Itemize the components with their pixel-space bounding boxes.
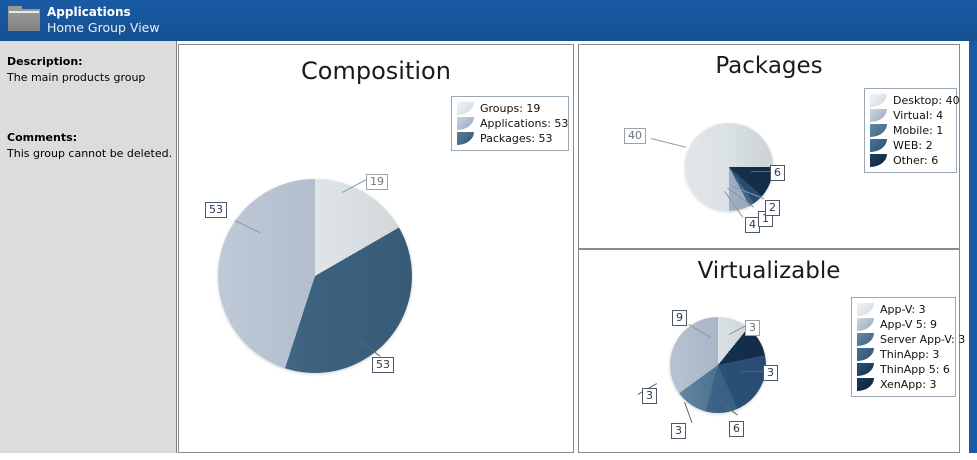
legend-swatch-desktop <box>870 94 887 107</box>
legend-label: Packages: 53 <box>480 132 553 145</box>
comments-label: Comments: <box>7 131 77 144</box>
legend-label: Server App-V: 3 <box>880 333 965 346</box>
packages-chart-panel: Packages Desktop: 40 Virtual: 4 Mobile: … <box>578 44 960 249</box>
legend-label: XenApp: 3 <box>880 378 936 391</box>
packages-legend: Desktop: 40 Virtual: 4 Mobile: 1 WEB: 2 … <box>864 88 957 173</box>
legend-item: Mobile: 1 <box>870 123 949 138</box>
page-subtitle: Home Group View <box>47 20 160 35</box>
packages-chart-title: Packages <box>579 53 959 79</box>
legend-label: ThinApp: 3 <box>880 348 939 361</box>
virtualizable-value-server-appv: 3 <box>763 365 778 381</box>
composition-pie <box>218 179 412 373</box>
legend-swatch-server-appv <box>857 333 874 346</box>
virtualizable-value-appv5: 9 <box>672 310 687 326</box>
packages-value-web: 2 <box>765 200 780 216</box>
composition-legend: Groups: 19 Applications: 53 Packages: 53 <box>451 96 569 151</box>
legend-item: App-V 5: 9 <box>857 317 948 332</box>
legend-swatch-virtual <box>870 109 887 122</box>
legend-swatch-groups <box>457 102 474 115</box>
legend-label: Groups: 19 <box>480 102 540 115</box>
legend-label: Applications: 53 <box>480 117 568 130</box>
page-title: Applications <box>47 5 131 19</box>
legend-label: App-V: 3 <box>880 303 926 316</box>
legend-item: Applications: 53 <box>457 116 561 131</box>
virtualizable-value-thinapp: 3 <box>671 423 686 439</box>
packages-value-other: 6 <box>770 165 785 181</box>
legend-swatch-applications <box>457 117 474 130</box>
legend-swatch-xenapp <box>857 378 874 391</box>
composition-value-applications: 53 <box>205 202 227 218</box>
virtualizable-chart-title: Virtualizable <box>579 258 959 284</box>
composition-value-groups: 19 <box>366 174 388 190</box>
virtualizable-value-xenapp: 3 <box>642 388 657 404</box>
right-scroll-rail[interactable] <box>969 41 977 453</box>
leader-line <box>751 171 771 172</box>
legend-label: App-V 5: 9 <box>880 318 937 331</box>
comments-text: This group cannot be deleted. <box>7 147 172 160</box>
description-text: The main products group <box>7 71 145 84</box>
legend-swatch-appv <box>857 303 874 316</box>
legend-item: Desktop: 40 <box>870 93 949 108</box>
legend-swatch-mobile <box>870 124 887 137</box>
composition-chart-title: Composition <box>179 57 573 85</box>
legend-swatch-thinapp5 <box>857 363 874 376</box>
composition-value-packages: 53 <box>372 357 394 373</box>
virtualizable-value-appv: 3 <box>745 320 760 336</box>
legend-label: Other: 6 <box>893 154 938 167</box>
legend-item: App-V: 3 <box>857 302 948 317</box>
legend-item: XenApp: 3 <box>857 377 948 392</box>
legend-label: Mobile: 1 <box>893 124 943 137</box>
folder-icon <box>8 6 40 31</box>
application-window: Applications Home Group View Description… <box>0 0 977 460</box>
legend-item: ThinApp 5: 6 <box>857 362 948 377</box>
virtualizable-legend: App-V: 3 App-V 5: 9 Server App-V: 3 Thin… <box>851 297 956 397</box>
packages-value-desktop: 40 <box>624 128 646 144</box>
legend-swatch-packages <box>457 132 474 145</box>
legend-item: ThinApp: 3 <box>857 347 948 362</box>
info-sidebar: Description: The main products group Com… <box>0 41 177 453</box>
legend-label: WEB: 2 <box>893 139 933 152</box>
composition-chart-panel: Composition Groups: 19 Applications: 53 … <box>178 44 574 453</box>
description-label: Description: <box>7 55 83 68</box>
virtualizable-value-thinapp5: 6 <box>729 421 744 437</box>
legend-label: Desktop: 40 <box>893 94 960 107</box>
legend-item: Server App-V: 3 <box>857 332 948 347</box>
legend-swatch-appv5 <box>857 318 874 331</box>
legend-label: ThinApp 5: 6 <box>880 363 950 376</box>
virtualizable-chart-panel: Virtualizable App-V: 3 App-V 5: 9 Server… <box>578 249 960 453</box>
title-bar: Applications Home Group View <box>0 0 977 41</box>
legend-item: Virtual: 4 <box>870 108 949 123</box>
legend-label: Virtual: 4 <box>893 109 943 122</box>
legend-swatch-web <box>870 139 887 152</box>
leader-line <box>742 371 763 372</box>
legend-item: Other: 6 <box>870 153 949 168</box>
leader-line <box>651 138 686 148</box>
bottom-strip <box>0 453 977 460</box>
legend-item: WEB: 2 <box>870 138 949 153</box>
legend-item: Groups: 19 <box>457 101 561 116</box>
legend-swatch-thinapp <box>857 348 874 361</box>
legend-item: Packages: 53 <box>457 131 561 146</box>
legend-swatch-other <box>870 154 887 167</box>
